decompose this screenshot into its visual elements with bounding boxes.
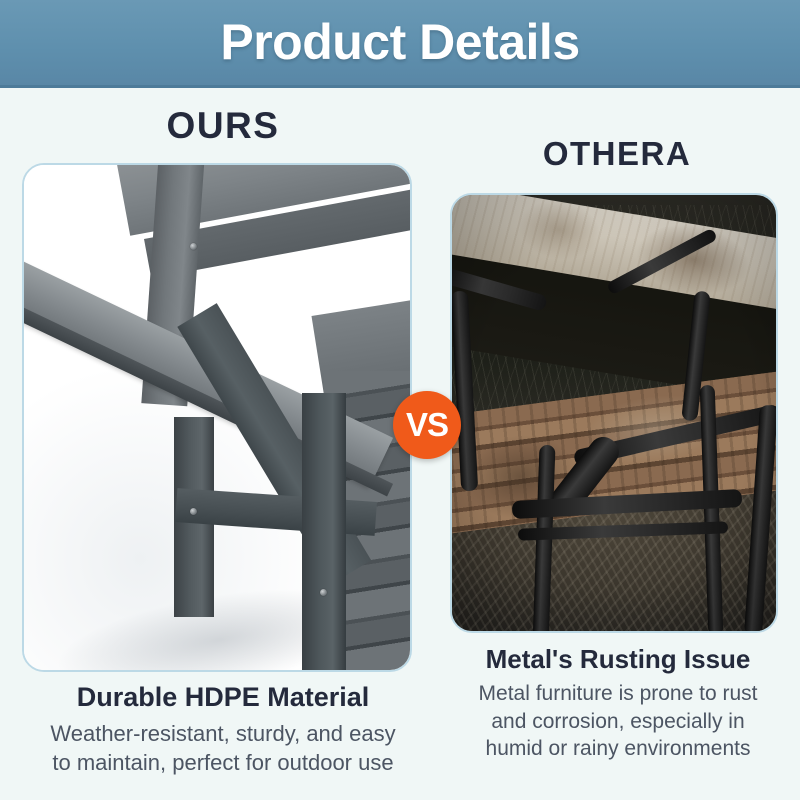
vs-badge: VS: [393, 391, 461, 459]
caption-line: Weather-resistant, sturdy, and easy: [10, 719, 436, 748]
rusty-metal-bench-photo: [452, 195, 776, 631]
othera-heading: OTHERA: [452, 137, 782, 170]
screw-head-icon: [190, 243, 197, 250]
header-banner: Product Details: [0, 0, 800, 88]
othera-caption: Metal's Rusting Issue Metal furniture is…: [446, 645, 790, 763]
othera-caption-title: Metal's Rusting Issue: [446, 645, 790, 675]
page-title: Product Details: [220, 17, 579, 67]
ours-caption-title: Durable HDPE Material: [10, 682, 436, 713]
hdpe-bench-photo: [24, 165, 410, 670]
othera-caption-body: Metal furniture is prone to rust and cor…: [446, 680, 790, 763]
screw-head-icon: [320, 589, 327, 596]
othera-product-image-panel: [450, 193, 778, 633]
ours-caption-body: Weather-resistant, sturdy, and easy to m…: [10, 719, 436, 777]
ours-product-image-panel: [22, 163, 412, 672]
caption-line: to maintain, perfect for outdoor use: [10, 748, 436, 777]
ours-heading: OURS: [0, 107, 446, 144]
bench-center-leg: [302, 393, 346, 672]
caption-line: Metal furniture is prone to rust: [446, 680, 790, 708]
vs-label: VS: [406, 408, 448, 441]
screw-head-icon: [190, 508, 197, 515]
photo-vignette: [452, 195, 776, 631]
product-details-infographic: Product Details OURS OTHERA: [0, 0, 800, 800]
caption-line: and corrosion, especially in: [446, 708, 790, 736]
caption-line: humid or rainy environments: [446, 735, 790, 763]
ours-caption: Durable HDPE Material Weather-resistant,…: [10, 682, 436, 777]
